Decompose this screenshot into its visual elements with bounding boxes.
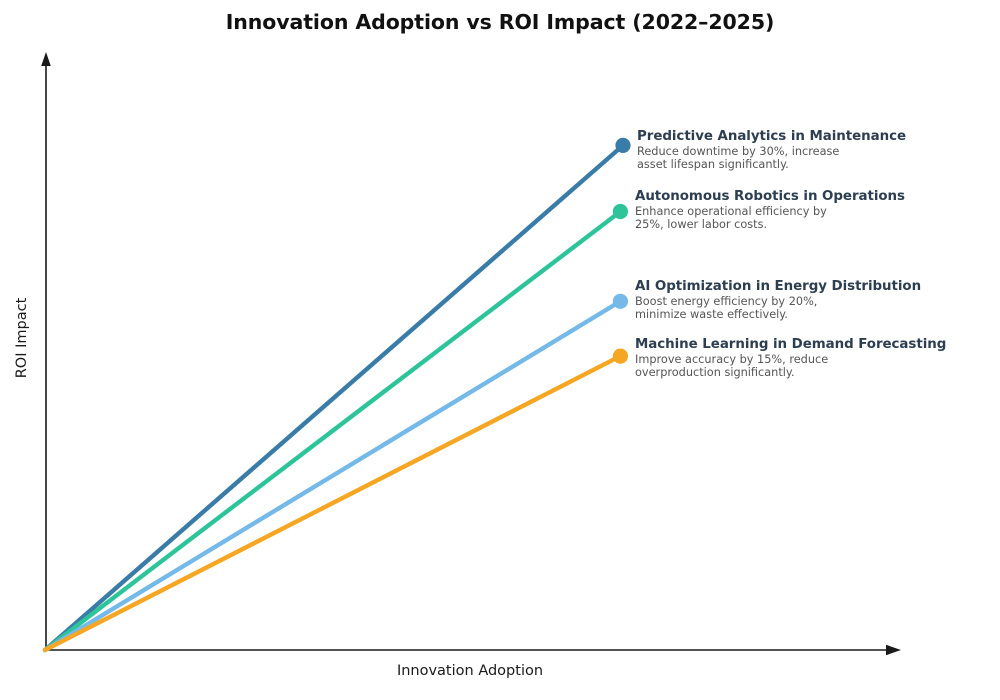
- series-lines-group: [45, 145, 623, 650]
- chart-canvas: Innovation Adoption vs ROI Impact (2022–…: [0, 0, 1000, 700]
- annotation-description: Boost energy efficiency by 20%, minimize…: [635, 295, 921, 321]
- annotation-description-line1: Enhance operational efficiency by: [635, 205, 905, 218]
- y-axis-arrowhead: [41, 52, 51, 66]
- annotation-autonomous-robotics: Autonomous Robotics in Operations Enhanc…: [635, 189, 905, 231]
- annotation-description-line2: asset lifespan significantly.: [637, 158, 906, 171]
- annotation-description: Enhance operational efficiency by 25%, l…: [635, 205, 905, 231]
- annotation-heading: AI Optimization in Energy Distribution: [635, 279, 921, 294]
- annotation-ai-optimization: AI Optimization in Energy Distribution B…: [635, 279, 921, 321]
- marker-predictive-analytics: [615, 138, 630, 153]
- annotation-heading: Predictive Analytics in Maintenance: [637, 129, 906, 144]
- annotation-heading: Machine Learning in Demand Forecasting: [635, 337, 946, 352]
- series-line-ai-optimization: [45, 301, 620, 650]
- x-axis-label: Innovation Adoption: [0, 663, 940, 679]
- annotation-description-line2: minimize waste effectively.: [635, 308, 921, 321]
- annotation-description-line2: overproduction significantly.: [635, 366, 946, 379]
- marker-ai-optimization: [613, 294, 628, 309]
- series-line-autonomous-robotics: [45, 212, 620, 651]
- annotation-machine-learning: Machine Learning in Demand Forecasting I…: [635, 337, 946, 379]
- y-axis-label: ROI Impact: [14, 278, 30, 398]
- marker-machine-learning: [613, 349, 628, 364]
- annotation-description: Reduce downtime by 30%, increase asset l…: [637, 145, 906, 171]
- marker-autonomous-robotics: [613, 204, 628, 219]
- annotation-description: Improve accuracy by 15%, reduce overprod…: [635, 353, 946, 379]
- annotation-predictive-analytics: Predictive Analytics in Maintenance Redu…: [637, 129, 906, 171]
- annotation-description-line1: Reduce downtime by 30%, increase: [637, 145, 906, 158]
- x-axis-arrowhead: [886, 645, 901, 655]
- annotation-description-line2: 25%, lower labor costs.: [635, 218, 905, 231]
- series-markers-group: [613, 138, 631, 364]
- annotation-description-line1: Improve accuracy by 15%, reduce: [635, 353, 946, 366]
- annotation-heading: Autonomous Robotics in Operations: [635, 189, 905, 204]
- annotation-description-line1: Boost energy efficiency by 20%,: [635, 295, 921, 308]
